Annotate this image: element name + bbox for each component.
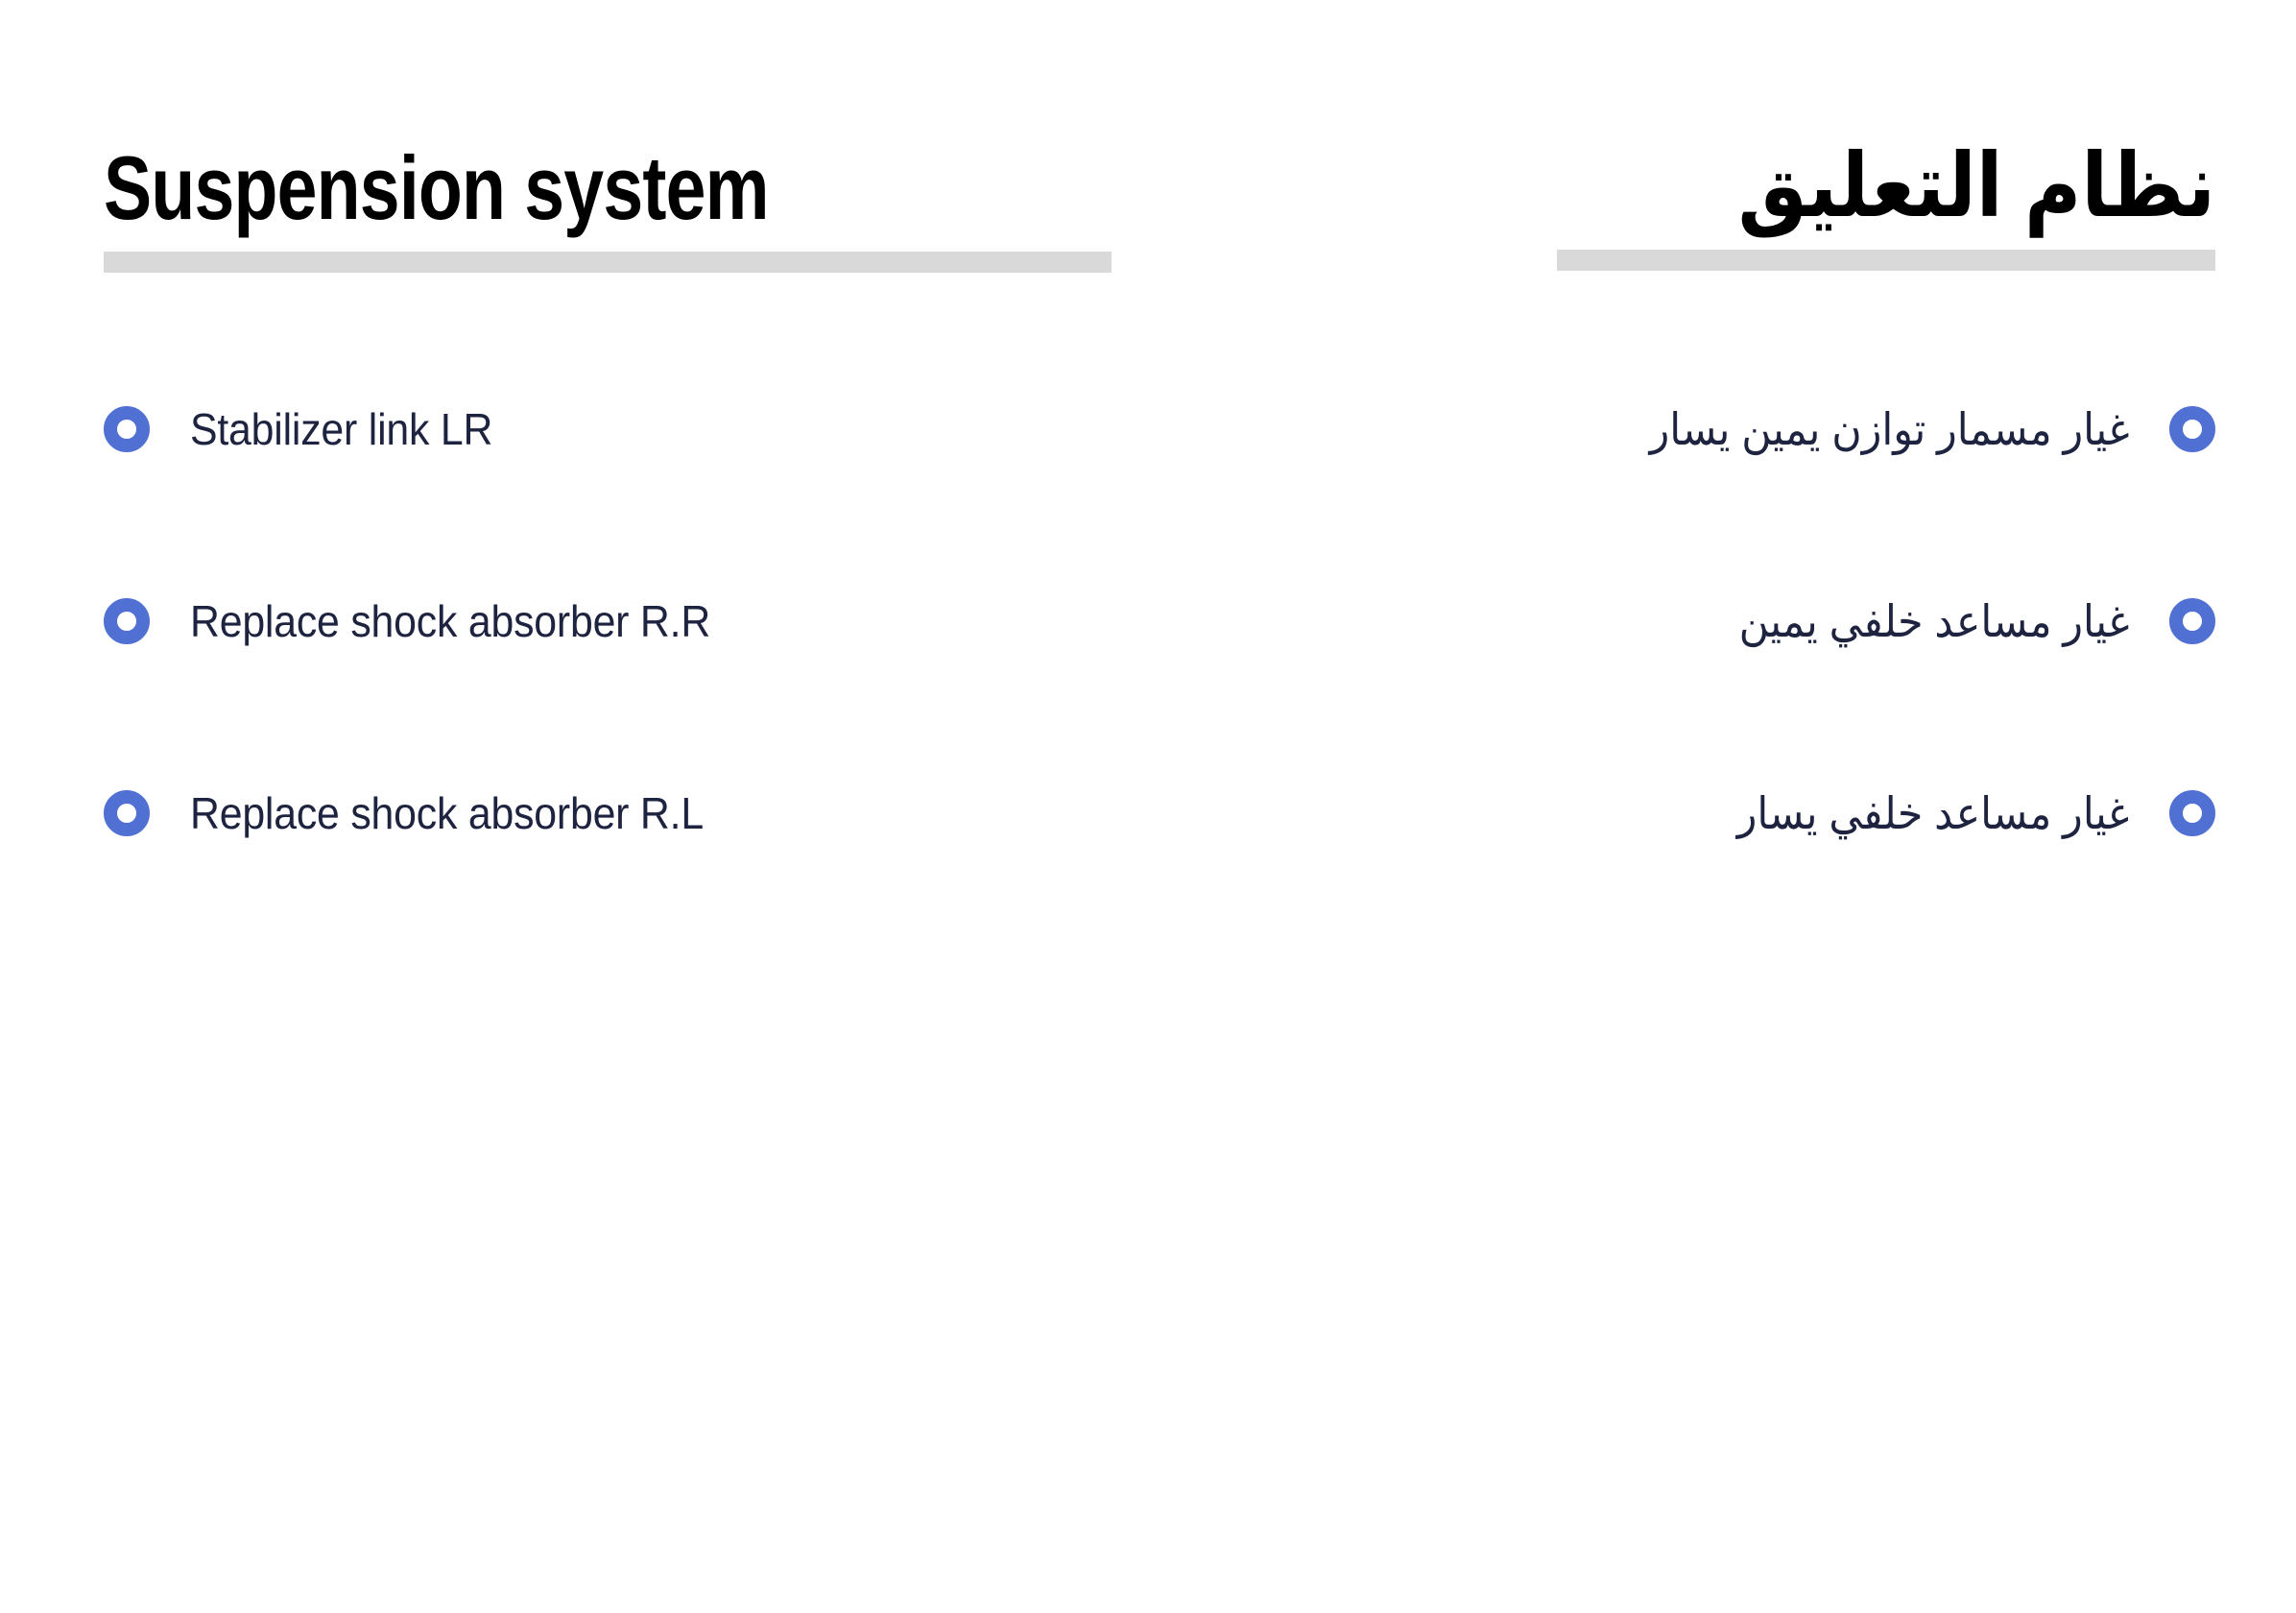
list-item[interactable]: غيار مسمار توازن يمين يسار — [1557, 378, 2215, 480]
ring-bullet-icon — [104, 790, 150, 836]
list-item[interactable]: غيار مساعد خلفي يسار — [1557, 762, 2215, 864]
ring-bullet-icon — [2169, 406, 2215, 452]
list-item[interactable]: Stabilizer link LR — [104, 378, 1112, 480]
ring-bullet-icon — [104, 598, 150, 644]
list-item-label: غيار مساعد خلفي يسار — [1737, 789, 2129, 838]
ring-bullet-icon — [2169, 598, 2215, 644]
list-item[interactable]: Replace shock absorber R.R — [104, 570, 1112, 672]
list-item-label: Stabilizer link LR — [190, 405, 492, 454]
ring-bullet-icon — [104, 406, 150, 452]
title-underline-bar-english — [104, 252, 1112, 273]
english-title-block: Suspension system — [104, 142, 1112, 273]
list-item[interactable]: Replace shock absorber R.L — [104, 762, 1112, 864]
ring-bullet-icon — [2169, 790, 2215, 836]
english-column: Suspension system Stabilizer link LR Rep… — [104, 0, 1112, 1613]
list-item-label: غيار مسمار توازن يمين يسار — [1649, 405, 2129, 454]
slide-canvas: Suspension system Stabilizer link LR Rep… — [0, 0, 2296, 1613]
list-item-label: Replace shock absorber R.R — [190, 597, 710, 646]
page-title-arabic: نظام التعليق — [1636, 142, 2215, 232]
english-bullet-list: Stabilizer link LR Replace shock absorbe… — [104, 378, 1112, 864]
title-underline-bar-arabic — [1557, 250, 2215, 271]
arabic-title-block: نظام التعليق — [1557, 142, 2215, 271]
arabic-column: نظام التعليق غيار مسمار توازن يمين يسار … — [1557, 0, 2215, 1613]
arabic-bullet-list: غيار مسمار توازن يمين يسار غيار مساعد خل… — [1557, 378, 2215, 864]
list-item-label: غيار مساعد خلفي يمين — [1738, 597, 2129, 646]
page-title-english: Suspension system — [104, 142, 910, 234]
list-item[interactable]: غيار مساعد خلفي يمين — [1557, 570, 2215, 672]
list-item-label: Replace shock absorber R.L — [190, 789, 704, 838]
